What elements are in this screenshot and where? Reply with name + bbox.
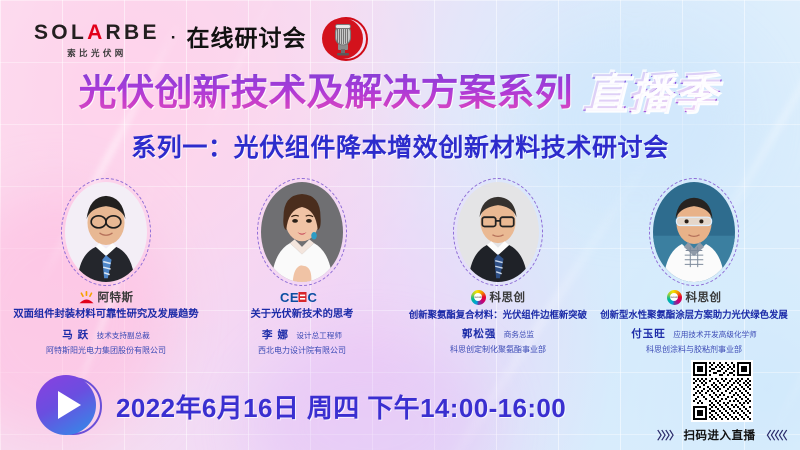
chevron-left-icon: 〈〈〈〈〈	[761, 427, 787, 443]
speaker-company-logo: covestro 科思创	[471, 287, 526, 307]
title-row: 光伏创新技术及解决方案系列 直播季	[0, 72, 800, 116]
qr-code-icon[interactable]	[691, 360, 753, 422]
speaker-org: 西北电力设计院有限公司	[258, 345, 346, 356]
solarbe-word-part1: SOL	[34, 21, 87, 44]
speaker-name: 马 跃	[62, 329, 89, 341]
speaker-name: 付玉旺	[631, 328, 666, 340]
speaker-photo-fu-yuwang	[649, 178, 739, 286]
speaker-identity: 李 娜 设计总工程师	[262, 325, 342, 343]
speaker-card: covestro 科思创 创新型水性聚氨酯涂层方案助力光伏绿色发展 付玉旺 应用…	[596, 178, 792, 356]
speaker-org: 阿特斯阳光电力集团股份有限公司	[46, 345, 166, 356]
speaker-photo-frame	[61, 178, 151, 286]
solarbe-logo: SOLARBE 索比光伏网	[34, 22, 160, 59]
speaker-role: 设计总工程师	[296, 331, 342, 340]
speaker-card: 阿特斯 双面组件封装材料可靠性研究及发展趋势 马 跃 技术支持副总裁 阿特斯阳光…	[8, 178, 204, 356]
speaker-identity: 郭松强 商务总监	[462, 324, 534, 342]
brand-separator: ·	[171, 28, 177, 48]
speaker-org: 科思创涂料与胶粘剂事业部	[646, 344, 742, 355]
qr-block: 〉〉〉〉 扫码进入直播 〈〈〈〈〈	[657, 360, 786, 443]
ceec-logo-icon: CE C	[280, 290, 320, 305]
speaker-company-name: 科思创	[686, 289, 722, 305]
speaker-talk-title: 双面组件封装材料可靠性研究及发展趋势	[13, 309, 198, 322]
solarbe-word-accent: A	[87, 21, 105, 44]
speaker-card: CE C 关于光伏新技术的思考 李 娜 设计总工程师 西北电力设计院有限公司	[204, 178, 400, 356]
covestro-logo-icon: covestro	[667, 290, 682, 305]
solarbe-wordmark: SOLARBE	[34, 22, 160, 43]
covestro-logo-icon: covestro	[471, 290, 486, 305]
event-datetime-block: 2022年6月16日 周四 下午14:00-16:00	[36, 375, 566, 437]
speaker-identity: 马 跃 技术支持副总裁	[62, 325, 150, 343]
qr-caption-row: 〉〉〉〉 扫码进入直播 〈〈〈〈〈	[657, 427, 786, 443]
chevron-right-icon: 〉〉〉〉	[657, 427, 679, 443]
speaker-photo-ma-yue	[61, 178, 151, 286]
speaker-company-name: 科思创	[490, 289, 526, 305]
speaker-company-logo: covestro 科思创	[667, 287, 722, 307]
svg-text:C: C	[308, 290, 318, 305]
solarbe-subtitle: 索比光伏网	[67, 47, 127, 59]
speaker-name: 郭松强	[462, 328, 497, 340]
speaker-photo-guo-songqiang	[453, 178, 543, 286]
qr-caption: 扫码进入直播	[684, 427, 756, 443]
brand-header: SOLARBE 索比光伏网 · 在线研讨会	[34, 16, 368, 64]
speaker-talk-title: 关于光伏新技术的思考	[251, 309, 354, 322]
speaker-photo-li-na	[257, 178, 347, 286]
solarbe-word-part2: RBE	[106, 21, 160, 44]
event-datetime-text: 2022年6月16日 周四 下午14:00-16:00	[116, 388, 566, 425]
page-title: 光伏创新技术及解决方案系列	[78, 74, 572, 114]
speaker-talk-title: 创新聚氨酯复合材料：光伏组件边框新突破	[409, 309, 587, 321]
microphone-badge	[322, 16, 368, 62]
speaker-list: 阿特斯 双面组件封装材料可靠性研究及发展趋势 马 跃 技术支持副总裁 阿特斯阳光…	[0, 178, 800, 356]
title-live-season: 直播季	[583, 72, 722, 116]
speaker-role: 商务总监	[504, 330, 534, 339]
play-button-icon[interactable]	[36, 375, 102, 437]
play-button-circle	[36, 375, 96, 435]
speaker-role: 应用技术开发高级化学师	[673, 330, 757, 339]
speaker-card: covestro 科思创 创新聚氨酯复合材料：光伏组件边框新突破 郭松强 商务总…	[400, 178, 596, 356]
speaker-company-logo: CE C	[280, 287, 324, 307]
speaker-photo-frame	[649, 178, 739, 286]
speaker-role: 技术支持副总裁	[97, 331, 150, 340]
webinar-label: 在线研讨会	[186, 27, 306, 50]
speaker-talk-title: 创新型水性聚氨酯涂层方案助力光伏绿色发展	[600, 309, 788, 321]
speaker-photo-frame	[453, 178, 543, 286]
sunburst-icon	[79, 291, 94, 304]
webinar-poster: SOLARBE 索比光伏网 · 在线研讨会	[0, 0, 800, 450]
speaker-photo-frame	[257, 178, 347, 286]
page-subtitle: 系列一：光伏组件降本增效创新材料技术研讨会	[0, 128, 800, 164]
play-triangle-icon	[58, 391, 81, 419]
speaker-company-logo: 阿特斯	[79, 287, 134, 307]
svg-text:CE: CE	[280, 290, 299, 305]
speaker-org: 科思创定制化聚氨酯事业部	[450, 344, 546, 355]
speaker-company-name: 阿特斯	[98, 289, 134, 305]
speaker-identity: 付玉旺 应用技术开发高级化学师	[631, 324, 756, 342]
speaker-name: 李 娜	[262, 329, 289, 341]
